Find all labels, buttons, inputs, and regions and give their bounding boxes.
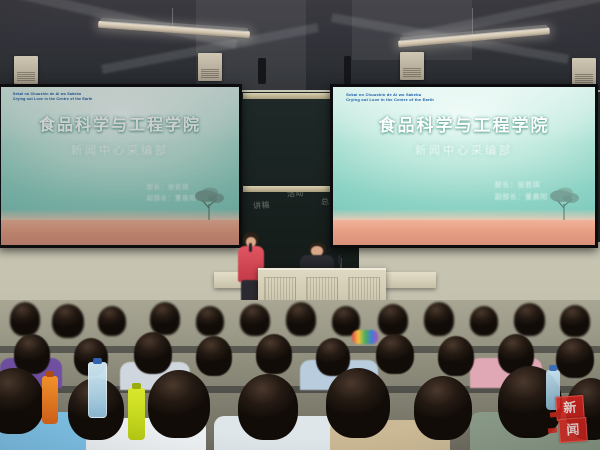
bottle-cap — [93, 358, 103, 364]
audience-head — [438, 336, 474, 376]
audience-head — [326, 368, 390, 438]
audience-area — [0, 300, 600, 450]
slide-credit-director: 部长：张若琪 — [495, 180, 548, 192]
slide-subtitle: 新闻中心采编部 — [1, 142, 239, 158]
right-projection-screen: Sekai no Chuushin de Ai wo Sakebu Crying… — [330, 84, 598, 248]
audience-head — [470, 306, 498, 336]
audience-head — [414, 376, 472, 440]
ceiling — [0, 0, 600, 92]
slide-english-line-2: Crying out Love in the Centre of the Ear… — [346, 97, 434, 102]
seal-mark — [548, 427, 558, 433]
audience-head — [196, 336, 232, 376]
slide-title: 食品科学与工程学院 — [1, 111, 239, 135]
audience-head — [238, 374, 298, 440]
wall-speaker — [572, 58, 596, 86]
hair-accessory — [352, 330, 378, 344]
slide-ground — [333, 220, 595, 245]
audience-head — [240, 304, 270, 336]
ceiling-camera — [258, 58, 266, 84]
slide-sky — [1, 87, 239, 191]
water-bottle-yellow — [128, 388, 145, 440]
audience-head — [378, 304, 408, 336]
bottle-cap — [132, 383, 142, 389]
audience-head — [134, 332, 172, 374]
water-bottle-clear — [88, 362, 107, 418]
audience-head — [424, 302, 454, 336]
audience-head — [150, 302, 180, 335]
audience-head — [98, 306, 126, 336]
water-bottle-orange — [42, 376, 58, 424]
chalk-note: 讲稿 — [253, 200, 271, 212]
tree-silhouette-icon — [193, 180, 227, 220]
audience-head — [556, 338, 594, 378]
audience-head — [376, 334, 414, 374]
slide-english-line-2: Crying out Love in the Centre of the Ear… — [13, 97, 93, 102]
slide-english-caption: Sekai no Chuushin de Ai wo Sakebu Crying… — [13, 92, 93, 102]
ceiling-camera — [344, 56, 351, 84]
microphone-icon — [249, 243, 252, 252]
slide-subtitle: 新闻中心采编部 — [333, 142, 595, 158]
seal-character-2: 闻 — [558, 417, 588, 443]
red-seal-watermark: 新 闻 — [556, 396, 592, 444]
slide-ground — [1, 220, 239, 245]
audience-head — [256, 334, 292, 374]
slide-sky — [333, 87, 595, 191]
audience-head — [148, 370, 210, 438]
slide-credit-deputy: 副部长：董晨阳 — [146, 193, 196, 204]
slide-credit-deputy: 副部长：董晨阳 — [495, 192, 548, 204]
slide-credit-director: 部长：张若琪 — [146, 182, 196, 193]
audience-head — [286, 302, 316, 336]
bottle-cap — [46, 371, 55, 377]
slide-credits: 部长：张若琪 副部长：董晨阳 — [495, 180, 548, 204]
left-projection-screen: Sekai no Chuushin de Ai wo Sakebu Crying… — [0, 84, 242, 248]
slide-title: 食品科学与工程学院 — [333, 111, 595, 136]
wall-speaker — [198, 53, 222, 81]
desk-surface-right — [384, 272, 436, 288]
audience-head — [10, 302, 40, 336]
lecture-hall-photo: 讲稿 活动 总结 Sekai no Chuushin de Ai wo Sake… — [0, 0, 600, 450]
slide-english-caption: Sekai no Chuushin de Ai wo Sakebu Crying… — [346, 92, 434, 103]
slide-credits: 部长：张若琪 副部长：董晨阳 — [146, 182, 196, 204]
audience-head — [514, 303, 545, 336]
bottle-cap — [549, 365, 557, 371]
microphone-icon — [338, 255, 341, 264]
tree-silhouette-icon — [548, 180, 582, 220]
wall-speaker — [14, 56, 38, 84]
audience-head — [196, 306, 224, 336]
wall-speaker — [400, 52, 424, 80]
slide-content: Sekai no Chuushin de Ai wo Sakebu Crying… — [333, 87, 595, 245]
slide-content: Sekai no Chuushin de Ai wo Sakebu Crying… — [1, 87, 239, 245]
audience-head — [560, 305, 590, 337]
audience-head — [52, 304, 84, 338]
